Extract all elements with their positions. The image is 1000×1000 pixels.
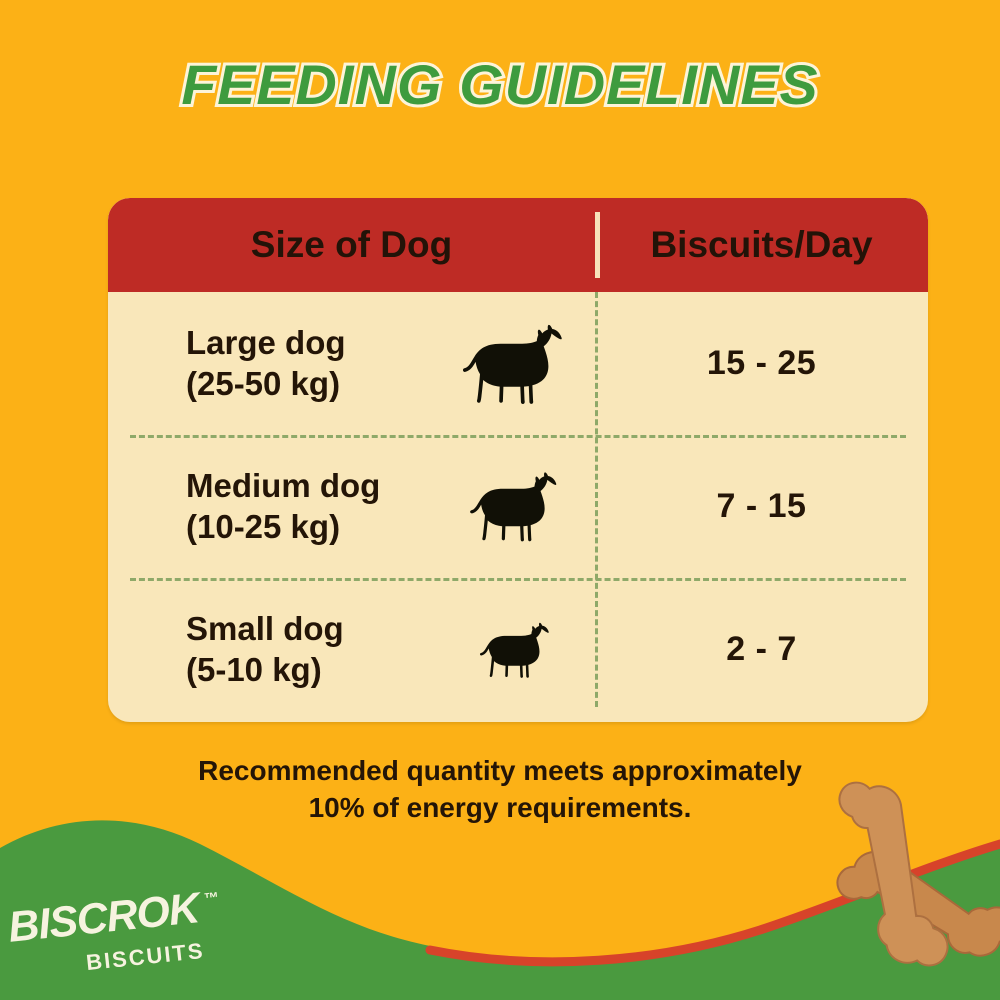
dog-icon-cell	[443, 578, 595, 721]
column-header-size-of-dog: Size of Dog	[108, 198, 595, 292]
cell-size-of-dog: Medium dog (10-25 kg)	[108, 435, 443, 578]
dog-weight-range: (5-10 kg)	[186, 650, 443, 691]
dog-silhouette-icon	[470, 469, 568, 544]
trademark-symbol: ™	[203, 889, 220, 907]
table-row: Medium dog (10-25 kg) 7 - 15	[108, 435, 928, 578]
brand-logo: BISCROK ™ BISCUITS	[8, 886, 248, 982]
cell-size-of-dog: Small dog (5-10 kg)	[108, 578, 443, 721]
dog-icon-cell	[443, 435, 595, 578]
row-separator	[130, 435, 906, 438]
column-header-biscuits-per-day: Biscuits/Day	[595, 198, 928, 292]
cell-biscuits-per-day: 2 - 7	[595, 578, 928, 721]
bottom-green-band: BISCROK ™ BISCUITS	[0, 800, 1000, 1000]
feeding-table: Size of Dog Biscuits/Day Large dog (25-5…	[108, 198, 928, 722]
feeding-guidelines-page: { "theme": { "background": "#FCB116", "h…	[0, 0, 1000, 1000]
dog-size-name: Large dog	[186, 323, 443, 364]
page-title: FEEDING GUIDELINES	[0, 52, 1000, 117]
dog-size-name: Medium dog	[186, 466, 443, 507]
table-row: Small dog (5-10 kg) 2 - 7	[108, 578, 928, 721]
dog-weight-range: (25-50 kg)	[186, 364, 443, 405]
cell-biscuits-per-day: 15 - 25	[595, 292, 928, 435]
column-separator	[595, 292, 598, 707]
header-column-divider	[595, 212, 600, 278]
dog-size-name: Small dog	[186, 609, 443, 650]
cell-biscuits-per-day: 7 - 15	[595, 435, 928, 578]
dog-weight-range: (10-25 kg)	[186, 507, 443, 548]
table-body: Large dog (25-50 kg) 15 - 25 Medium dog …	[108, 292, 928, 722]
dog-icon-cell	[443, 292, 595, 435]
table-header-row: Size of Dog Biscuits/Day	[108, 198, 928, 292]
brand-subtitle: BISCUITS	[85, 938, 206, 976]
row-separator	[130, 578, 906, 581]
bone-biscuits-image	[790, 780, 1000, 1000]
dog-silhouette-icon	[480, 620, 558, 680]
table-row: Large dog (25-50 kg) 15 - 25	[108, 292, 928, 435]
dog-silhouette-icon	[463, 321, 575, 407]
cell-size-of-dog: Large dog (25-50 kg)	[108, 292, 443, 435]
